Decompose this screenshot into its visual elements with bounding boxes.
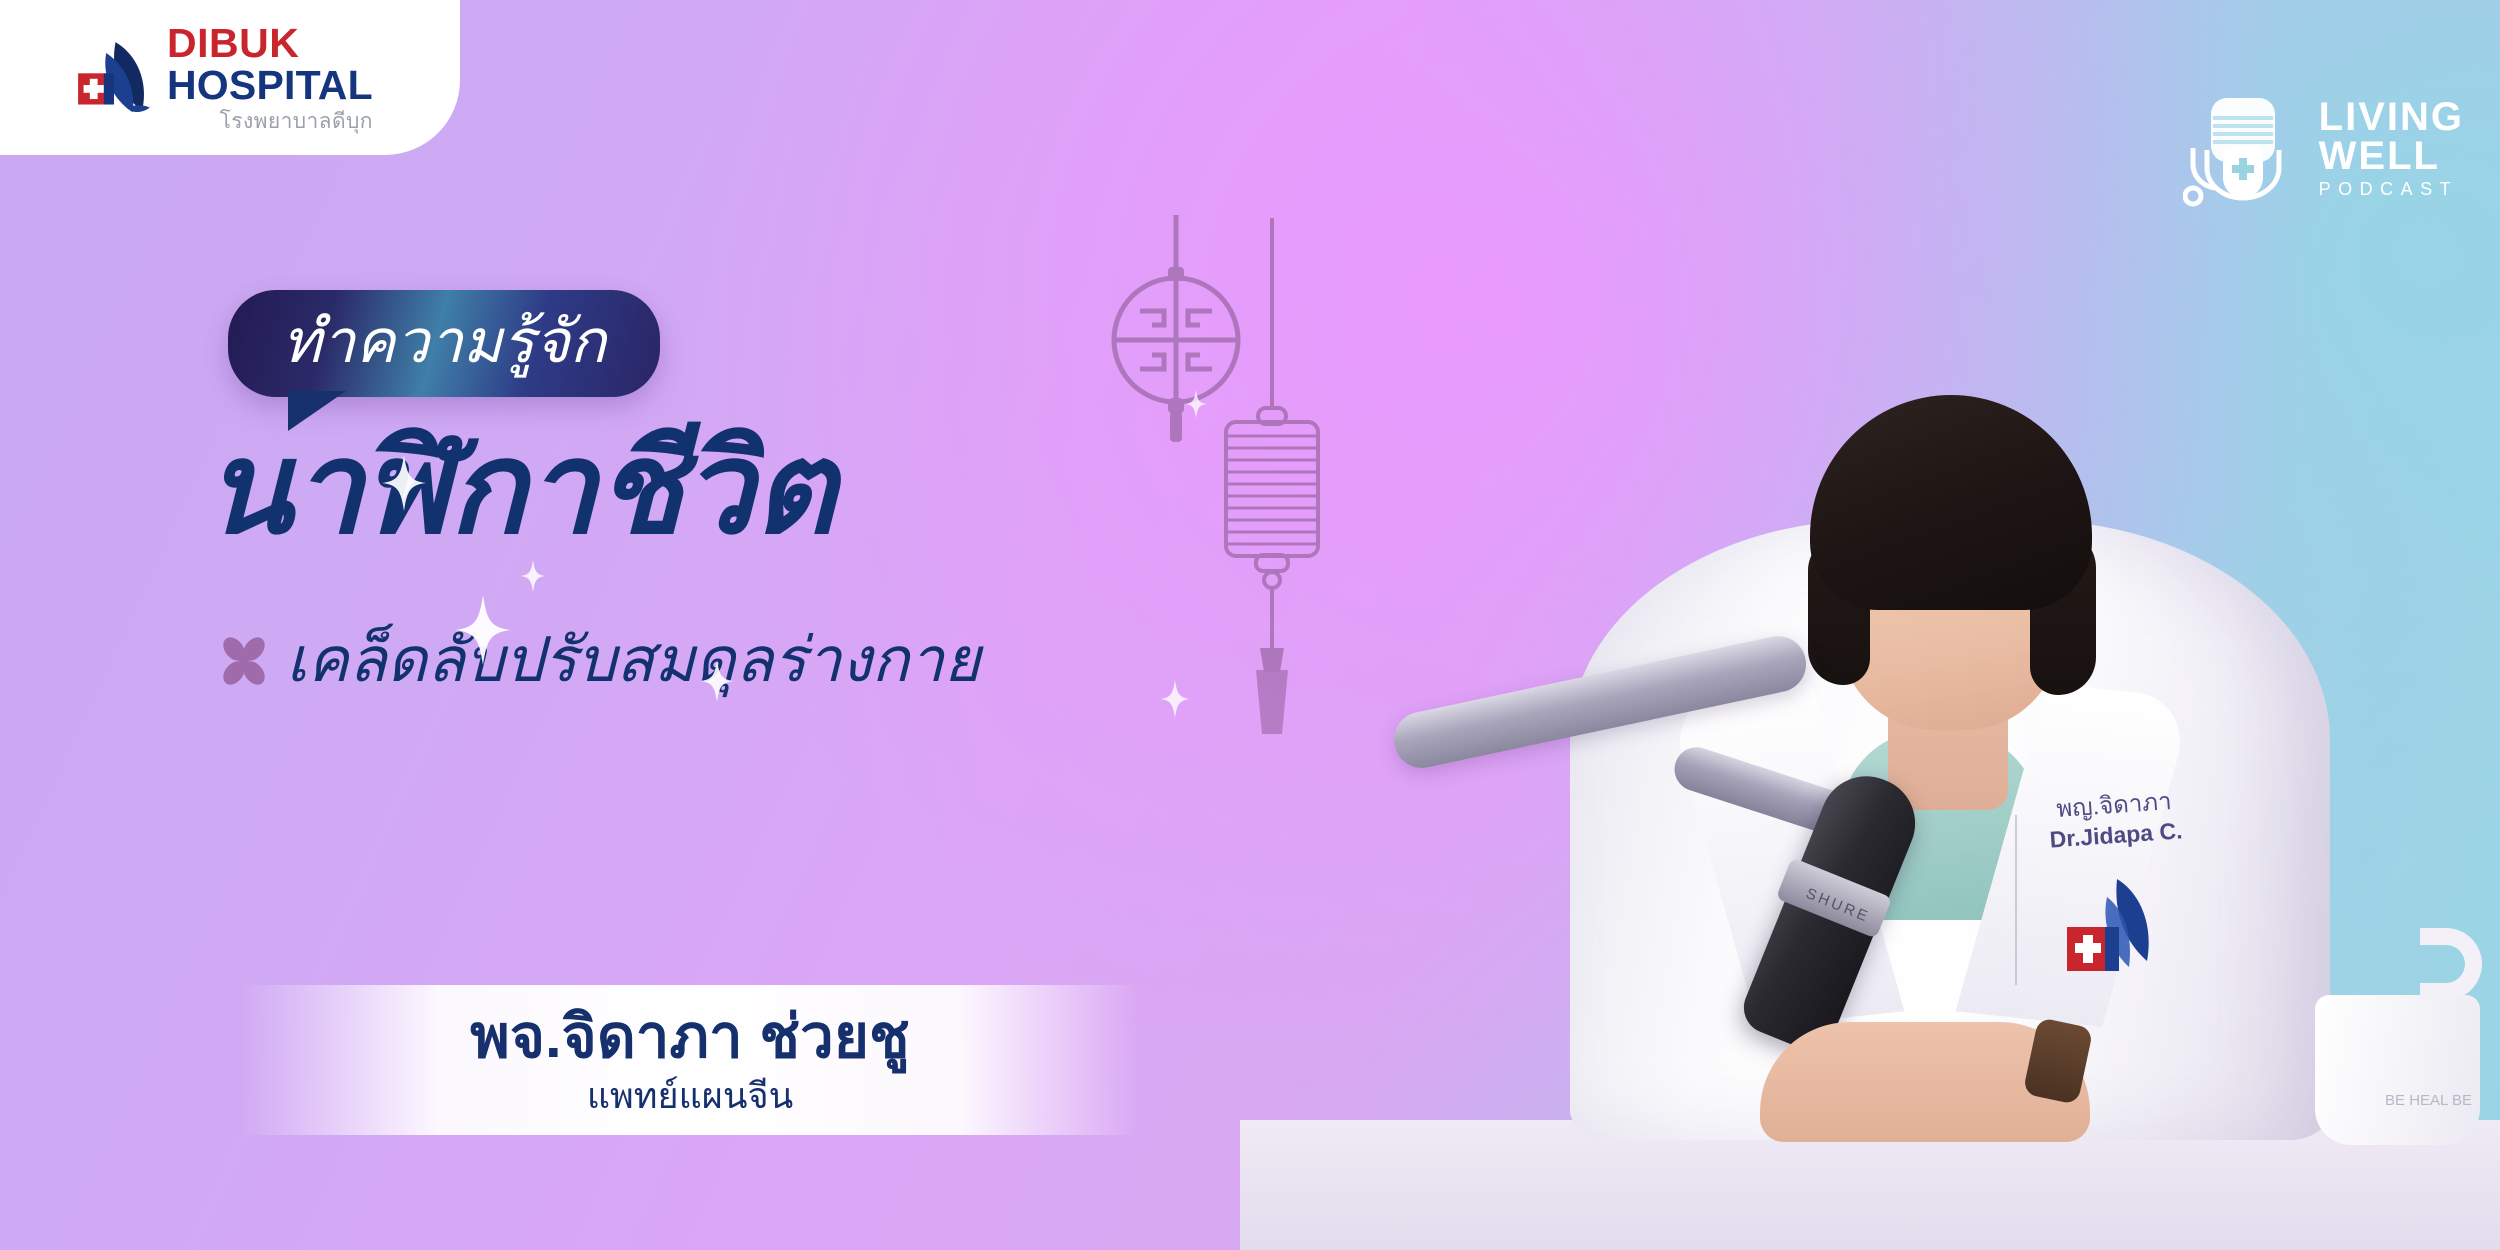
hero-badge-tail [288,391,346,431]
hero-badge-text: ทำความรู้จัก [282,308,606,375]
hero-badge-bubble: ทำความรู้จัก [228,290,660,397]
hospital-logo[interactable]: DIBUK HOSPITAL โรงพยาบาลดีบุก [0,0,460,155]
hero-headline: นาฬิกาชีวิต [205,425,835,553]
sparkle-icon [520,560,546,592]
dibuk-sail-cross-logo-icon [75,39,153,117]
podcast-line-2: WELL [2319,137,2464,176]
hero-subheadline: เคล็ดลับปรับสมดุลร่างกาย [218,630,980,692]
podcast-logo-words: LIVING WELL PODCAST [2319,98,2464,198]
coffee-mug [2315,995,2480,1145]
logo-name-bottom: HOSPITAL [167,65,373,106]
hero-badge: ทำความรู้จัก [228,290,660,397]
hospital-logo-words: DIBUK HOSPITAL โรงพยาบาลดีบุก [167,23,373,132]
podcast-logo[interactable]: LIVING WELL PODCAST [2183,88,2464,208]
logo-name-top: DIBUK [167,23,373,64]
speaker-name: พจ.จิดาภา ช่วยชู [470,1004,909,1070]
hair-top [1810,395,2092,610]
microphone-stethoscope-icon [2183,88,2303,208]
chinese-medallion-icon [1106,215,1246,445]
flower-asterisk-icon [218,635,270,687]
coat-dibuk-logo-icon [2055,875,2175,985]
mug-handle [2420,928,2482,1000]
sparkle-icon [1160,680,1190,718]
mug-text: BE HEAL BE [2385,1092,2472,1110]
logo-name-thai: โรงพยาบาลดีบุก [220,111,373,132]
speaker-nameplate: พจ.จิดาภา ช่วยชู แพทย์แผนจีน [240,985,1140,1135]
podcast-line-3: PODCAST [2319,181,2464,198]
podcast-cover-banner: พญ.จิดาภา Dr.Jidapa C. SHURE BE HEAL BE [0,0,2500,1250]
sparkle-icon [1185,390,1207,418]
podcast-line-1: LIVING [2319,98,2464,137]
speaker-role: แพทย์แผนจีน [587,1076,793,1116]
hero-subheadline-text: เคล็ดลับปรับสมดุลร่างกาย [286,630,980,692]
